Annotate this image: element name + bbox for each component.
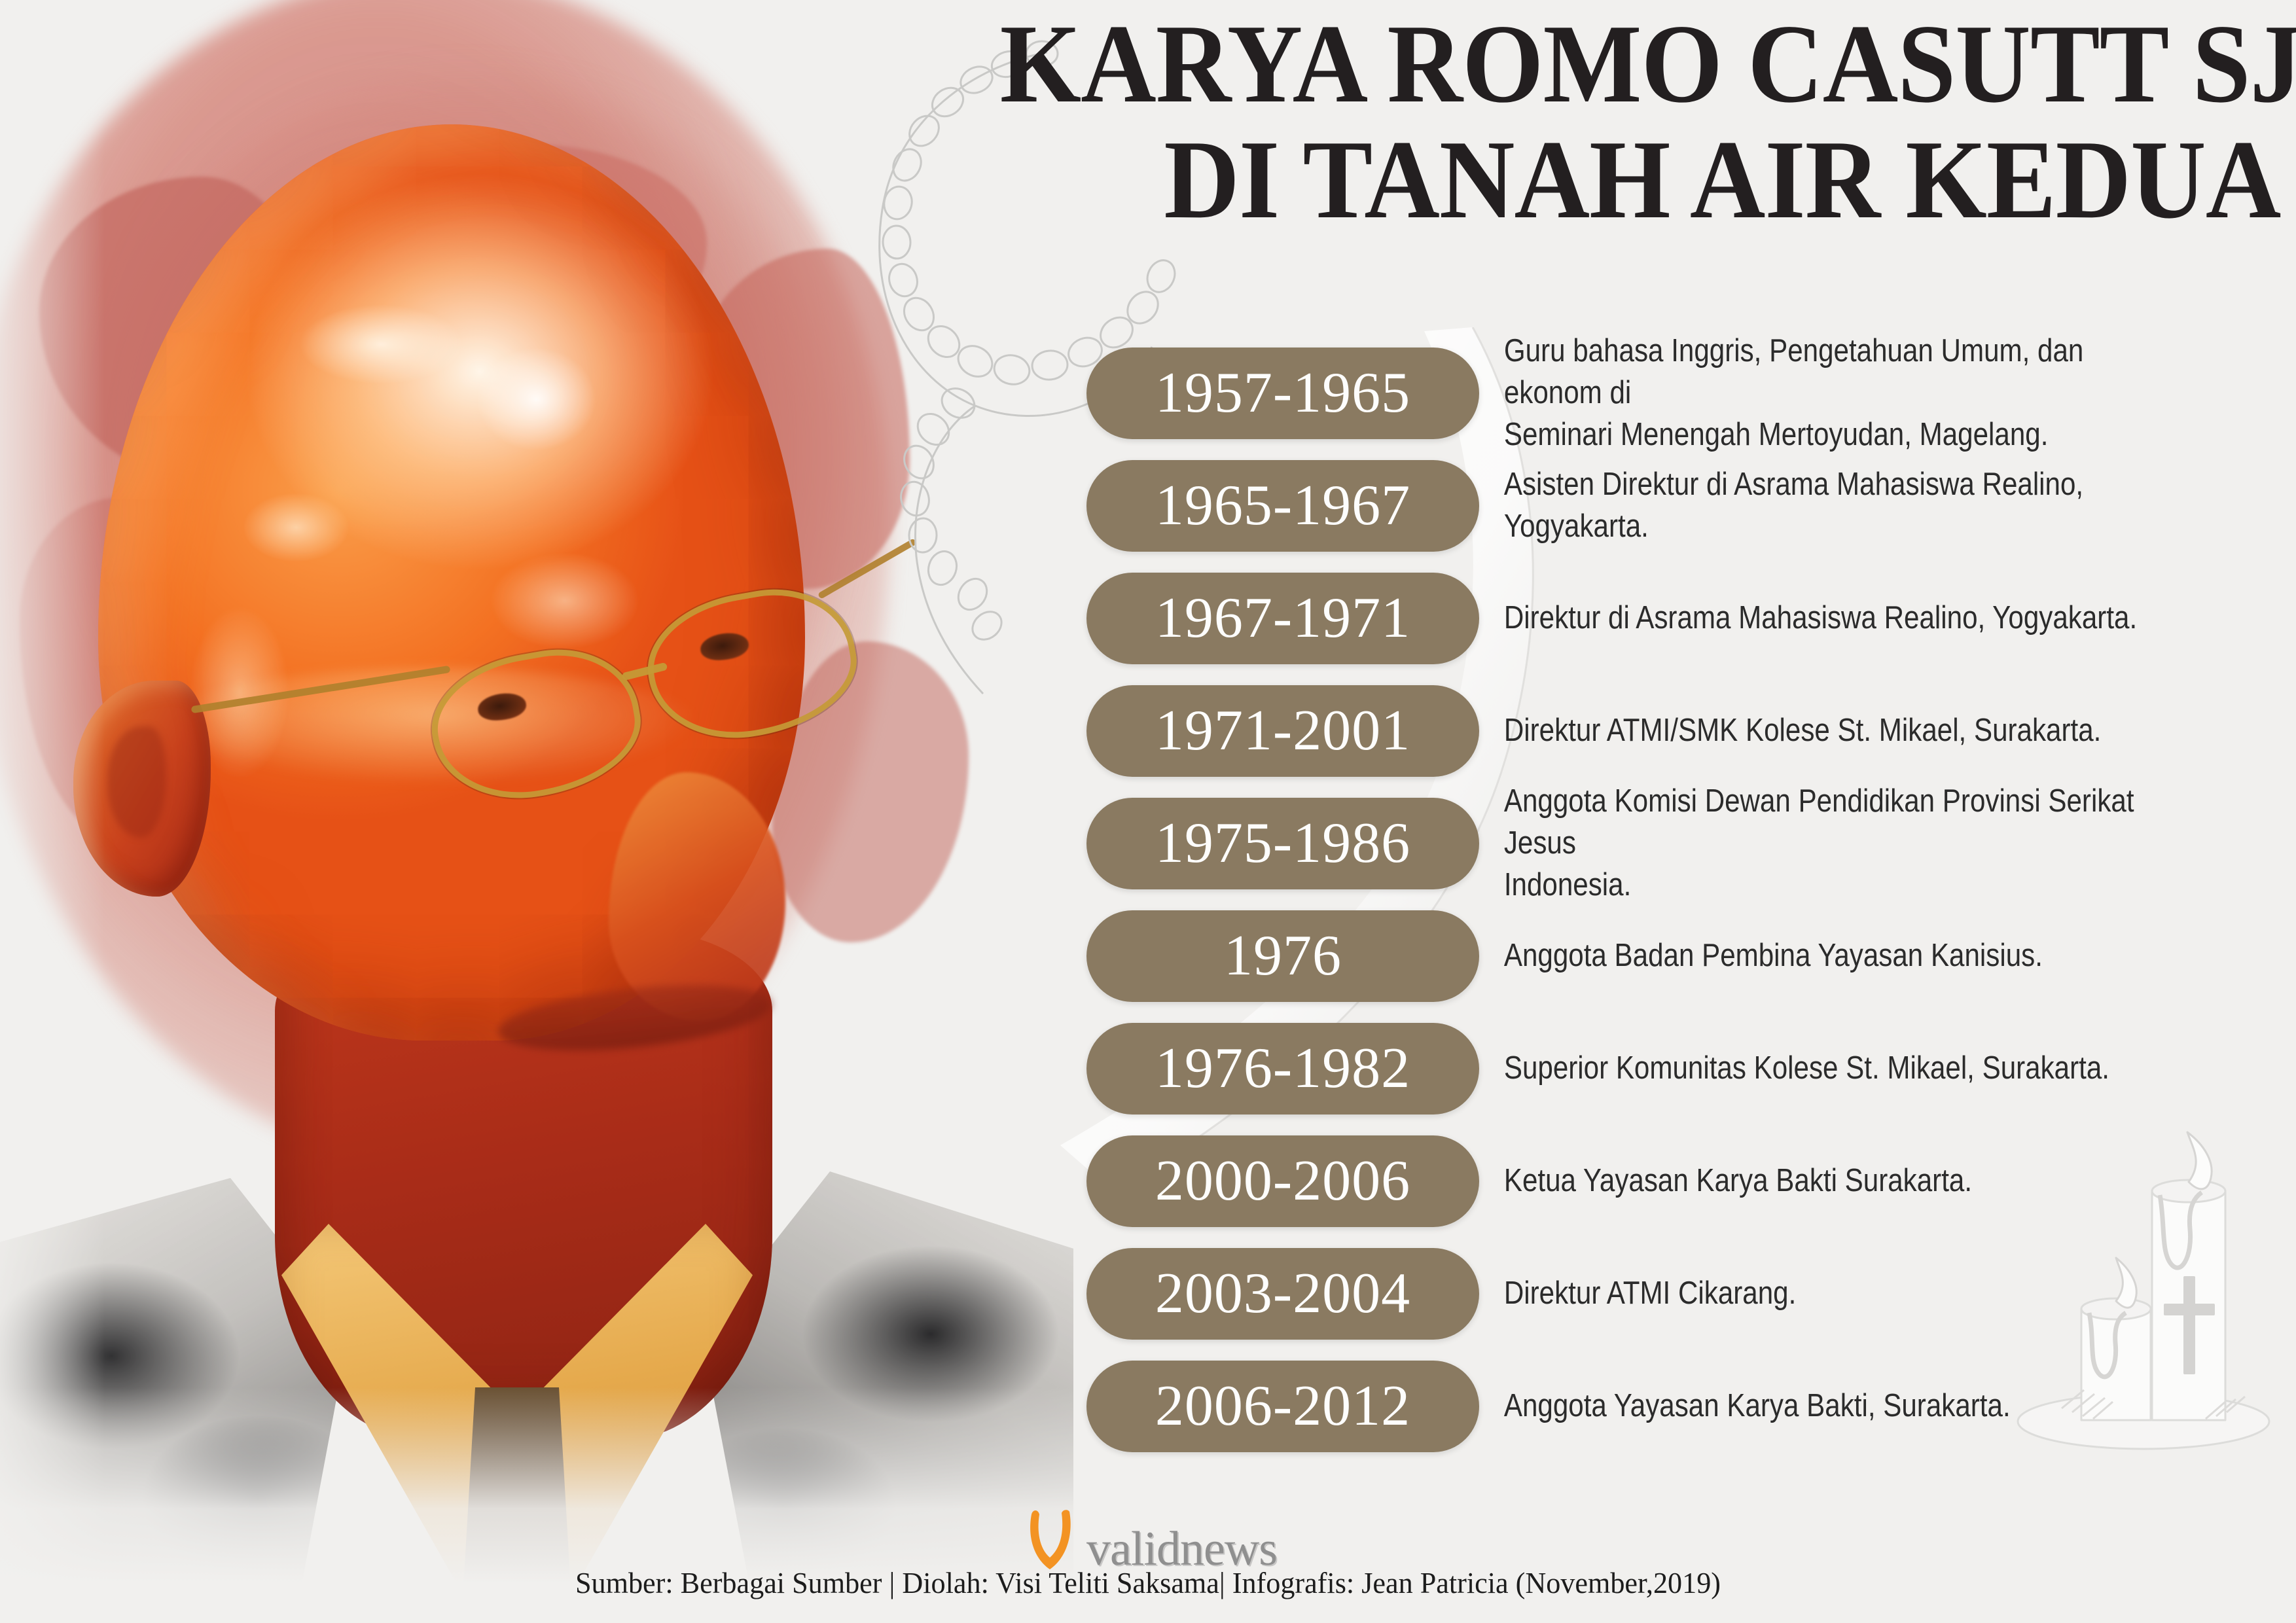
lens-right xyxy=(637,576,867,753)
portrait-bottom-fade xyxy=(0,1387,1073,1584)
timeline-row: 1971-2001 Direktur ATMI/SMK Kolese St. M… xyxy=(1086,675,2265,787)
year-pill[interactable]: 1975-1986 xyxy=(1086,798,1479,889)
role-description: Asisten Direktur di Asrama Mahasiswa Rea… xyxy=(1479,464,2155,547)
year-pill[interactable]: 2000-2006 xyxy=(1086,1135,1479,1227)
timeline-row: 1976 Anggota Badan Pembina Yayasan Kanis… xyxy=(1086,900,2265,1012)
year-label: 2006-2012 xyxy=(1155,1378,1410,1435)
year-pill[interactable]: 1976-1982 xyxy=(1086,1023,1479,1115)
role-description: Direktur di Asrama Mahasiswa Realino, Yo… xyxy=(1479,597,2155,639)
footer-credits: Sumber: Berbagai Sumber | Diolah: Visi T… xyxy=(46,1565,2250,1600)
timeline-row: 1965-1967 Asisten Direktur di Asrama Mah… xyxy=(1086,450,2265,562)
year-pill[interactable]: 1957-1965 xyxy=(1086,348,1479,439)
timeline-row: 1967-1971 Direktur di Asrama Mahasiswa R… xyxy=(1086,562,2265,675)
lens-left xyxy=(421,636,651,813)
timeline-row: 1957-1965 Guru bahasa Inggris, Pengetahu… xyxy=(1086,337,2265,450)
year-pill[interactable]: 1967-1971 xyxy=(1086,573,1479,664)
year-label: 1957-1965 xyxy=(1155,365,1410,422)
portrait-left-fade xyxy=(0,0,105,1584)
year-label: 1975-1986 xyxy=(1155,815,1410,872)
role-description: Direktur ATMI Cikarang. xyxy=(1479,1273,2155,1315)
role-description: Anggota Komisi Dewan Pendidikan Provinsi… xyxy=(1479,781,2155,906)
role-description: Anggota Yayasan Karya Bakti, Surakarta. xyxy=(1479,1385,2155,1427)
title-line-1: KARYA ROMO CASUTT SJ xyxy=(1000,7,2284,122)
timeline-row: 2003-2004 Direktur ATMI Cikarang. xyxy=(1086,1238,2265,1350)
role-description: Superior Komunitas Kolese St. Mikael, Su… xyxy=(1479,1048,2155,1090)
year-pill[interactable]: 1976 xyxy=(1086,910,1479,1002)
eyeglasses-icon xyxy=(196,576,916,851)
year-pill[interactable]: 1965-1967 xyxy=(1086,460,1479,552)
glasses-temple-left xyxy=(191,666,451,713)
role-description: Anggota Badan Pembina Yayasan Kanisius. xyxy=(1479,935,2155,977)
year-label: 1976-1982 xyxy=(1155,1040,1410,1097)
title-line-2: DI TANAH AIR KEDUA xyxy=(1000,122,2284,238)
page-title: KARYA ROMO CASUTT SJ DI TANAH AIR KEDUA xyxy=(903,7,2284,238)
year-pill[interactable]: 2003-2004 xyxy=(1086,1248,1479,1340)
year-label: 1967-1971 xyxy=(1155,590,1410,647)
timeline-row: 1976-1982 Superior Komunitas Kolese St. … xyxy=(1086,1012,2265,1125)
infographic-canvas: KARYA ROMO CASUTT SJ DI TANAH AIR KEDUA … xyxy=(0,0,2296,1623)
year-label: 1971-2001 xyxy=(1155,702,1410,760)
year-label: 2000-2006 xyxy=(1155,1152,1410,1210)
year-label: 1965-1967 xyxy=(1155,477,1410,535)
year-pill[interactable]: 2006-2012 xyxy=(1086,1361,1479,1452)
role-description: Direktur ATMI/SMK Kolese St. Mikael, Sur… xyxy=(1479,710,2155,752)
timeline-row: 1975-1986 Anggota Komisi Dewan Pendidika… xyxy=(1086,787,2265,900)
timeline-list: 1957-1965 Guru bahasa Inggris, Pengetahu… xyxy=(1086,337,2265,1463)
role-description: Ketua Yayasan Karya Bakti Surakarta. xyxy=(1479,1160,2155,1202)
year-pill[interactable]: 1971-2001 xyxy=(1086,685,1479,777)
timeline-row: 2000-2006 Ketua Yayasan Karya Bakti Sura… xyxy=(1086,1125,2265,1238)
role-description: Guru bahasa Inggris, Pengetahuan Umum, d… xyxy=(1479,330,2155,455)
timeline-row: 2006-2012 Anggota Yayasan Karya Bakti, S… xyxy=(1086,1350,2265,1463)
year-label: 1976 xyxy=(1224,927,1342,985)
year-label: 2003-2004 xyxy=(1155,1265,1410,1323)
